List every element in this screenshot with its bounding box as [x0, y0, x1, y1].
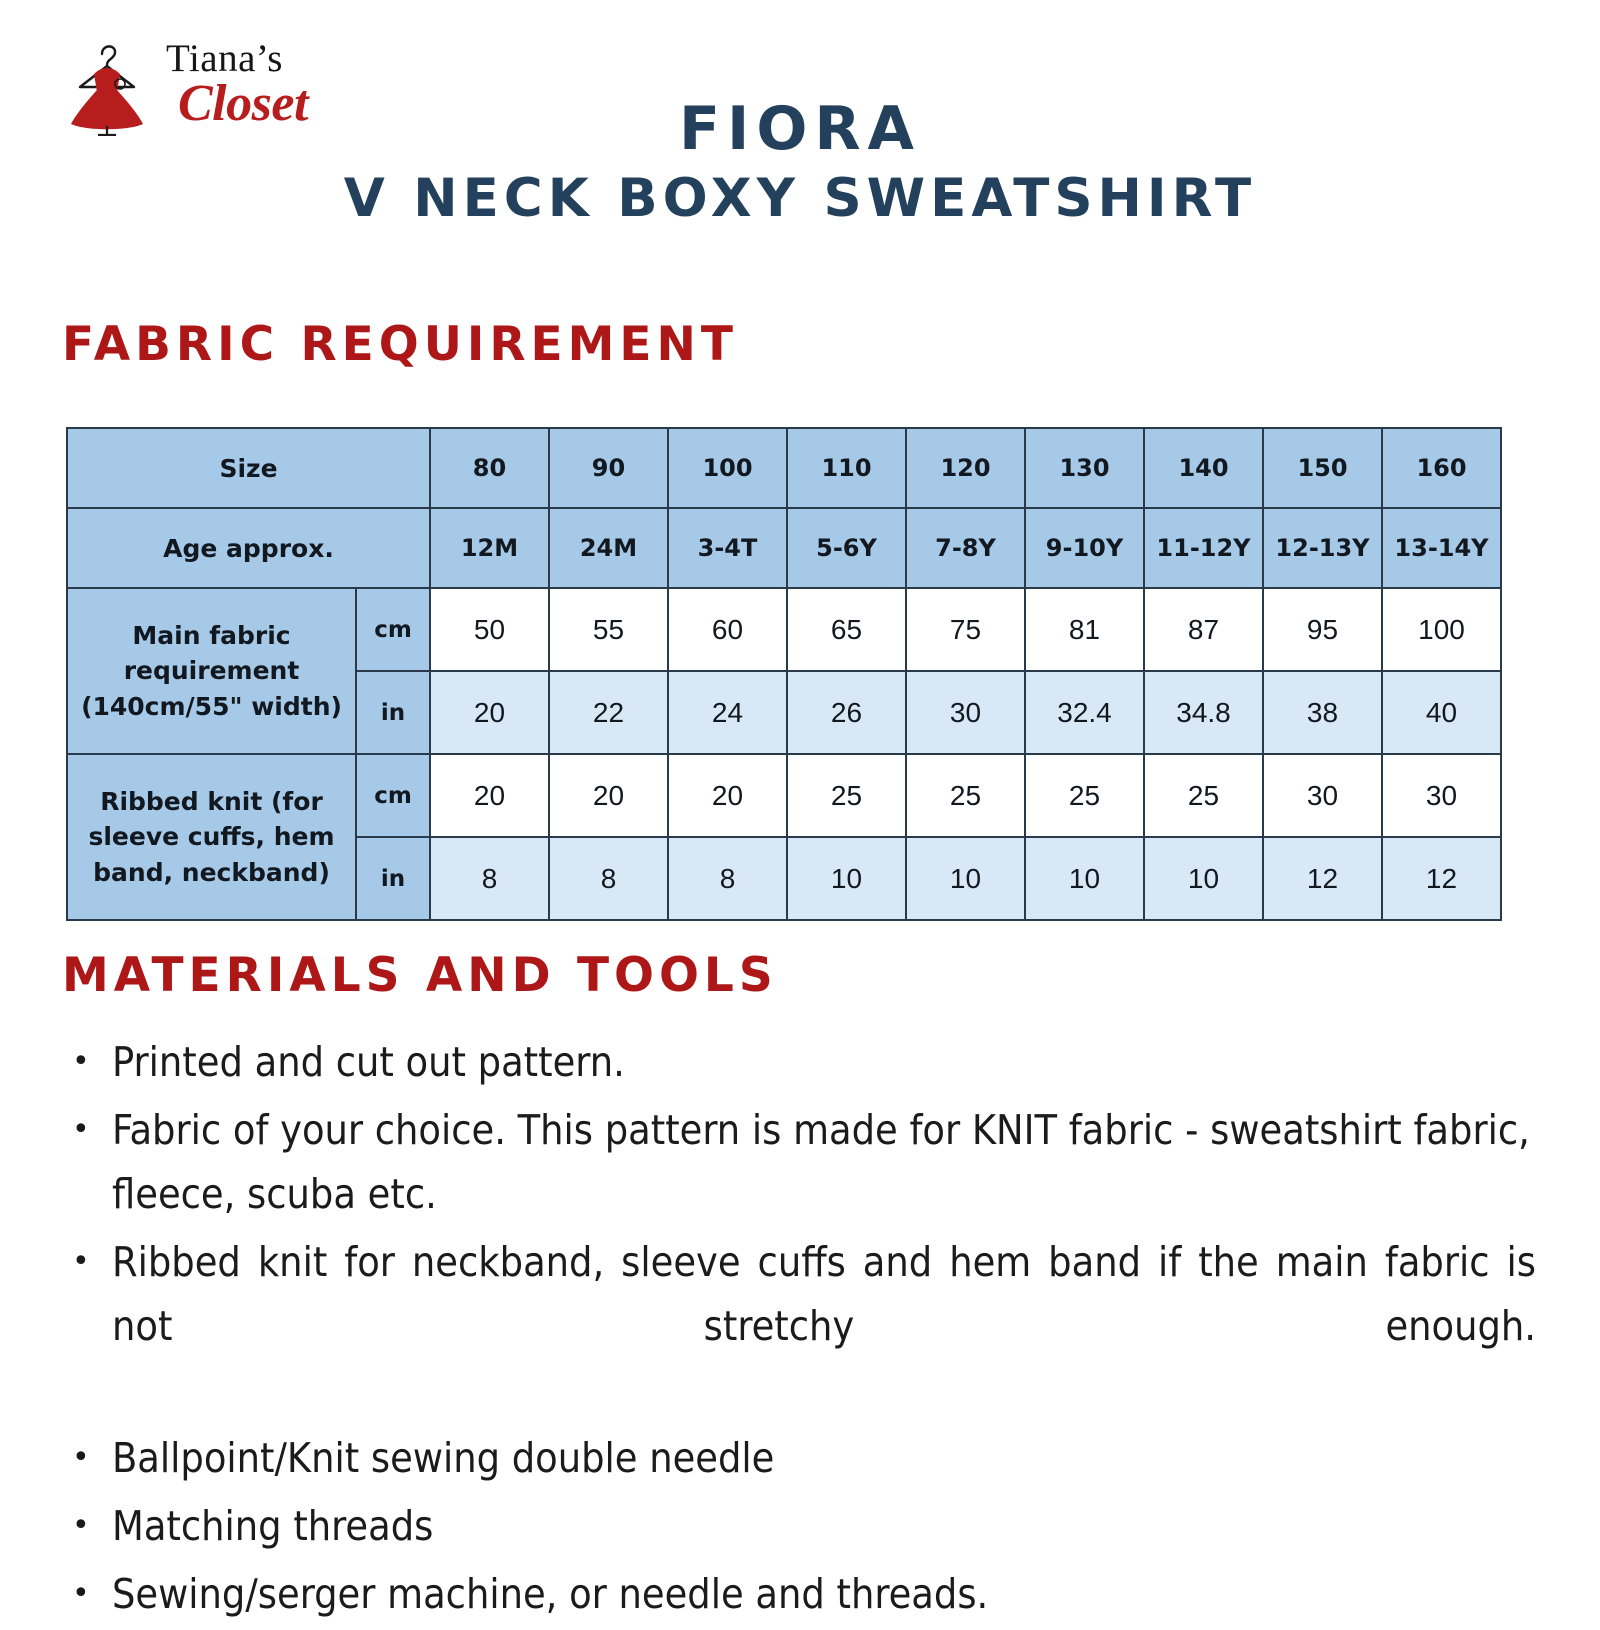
value-cell: 8: [668, 837, 787, 920]
table-row-size: Size 80 90 100 110 120 130 140 150 160: [67, 428, 1501, 508]
value-cell: 25: [787, 754, 906, 837]
value-cell: 8: [549, 837, 668, 920]
value-cell: 87: [1144, 588, 1263, 671]
fabric-requirement-table: Size 80 90 100 110 120 130 140 150 160 A…: [66, 427, 1496, 921]
value-cell: 81: [1025, 588, 1144, 671]
row-header-size: Size: [67, 428, 430, 508]
value-cell: 55: [549, 588, 668, 671]
age-cell: 5-6Y: [787, 508, 906, 588]
row-header-main-fabric: Main fabric requirement (140cm/55" width…: [67, 588, 356, 754]
value-cell: 26: [787, 671, 906, 754]
value-cell: 60: [668, 588, 787, 671]
value-cell: 24: [668, 671, 787, 754]
size-cell: 110: [787, 428, 906, 508]
size-cell: 130: [1025, 428, 1144, 508]
age-cell: 12M: [430, 508, 549, 588]
age-cell: 13-14Y: [1382, 508, 1501, 588]
age-cell: 24M: [549, 508, 668, 588]
value-cell: 12: [1382, 837, 1501, 920]
row-header-age: Age approx.: [67, 508, 430, 588]
value-cell: 25: [906, 754, 1025, 837]
age-cell: 7-8Y: [906, 508, 1025, 588]
value-cell: 38: [1263, 671, 1382, 754]
list-item-text: Matching threads: [112, 1494, 1536, 1558]
value-cell: 32.4: [1025, 671, 1144, 754]
pattern-name: FIORA: [0, 96, 1600, 163]
value-cell: 20: [430, 754, 549, 837]
value-cell: 8: [430, 837, 549, 920]
size-cell: 160: [1382, 428, 1501, 508]
size-cell: 100: [668, 428, 787, 508]
table-row-age: Age approx. 12M 24M 3-4T 5-6Y 7-8Y 9-10Y…: [67, 508, 1501, 588]
unit-cell-in: in: [356, 671, 430, 754]
value-cell: 40: [1382, 671, 1501, 754]
value-cell: 34.8: [1144, 671, 1263, 754]
size-cell: 80: [430, 428, 549, 508]
bullet-icon: •: [66, 1098, 112, 1162]
row-header-ribbed-knit: Ribbed knit (for sleeve cuffs, hem band,…: [67, 754, 356, 920]
value-cell: 25: [1144, 754, 1263, 837]
unit-cell-cm: cm: [356, 588, 430, 671]
bullet-icon: •: [66, 1230, 112, 1294]
bullet-icon: •: [66, 1562, 112, 1626]
age-cell: 9-10Y: [1025, 508, 1144, 588]
section-heading-fabric-requirement: FABRIC REQUIREMENT: [62, 317, 738, 372]
list-item-text: Ribbed knit for neckband, sleeve cuffs a…: [112, 1230, 1536, 1422]
bullet-icon: •: [66, 1030, 112, 1094]
bullet-icon: •: [66, 1494, 112, 1558]
size-cell: 150: [1263, 428, 1382, 508]
list-item-text: Ballpoint/Knit sewing double needle: [112, 1426, 1536, 1490]
value-cell: 30: [1382, 754, 1501, 837]
list-item-text: Sewing/serger machine, or needle and thr…: [112, 1562, 1536, 1626]
value-cell: 12: [1263, 837, 1382, 920]
list-item: • Fabric of your choice. This pattern is…: [66, 1098, 1536, 1226]
size-cell: 120: [906, 428, 1025, 508]
size-cell: 90: [549, 428, 668, 508]
section-heading-materials-and-tools: MATERIALS AND TOOLS: [62, 948, 778, 1003]
list-item-text: Printed and cut out pattern.: [112, 1030, 1536, 1094]
table-row-ribbed-knit-cm: Ribbed knit (for sleeve cuffs, hem band,…: [67, 754, 1501, 837]
size-cell: 140: [1144, 428, 1263, 508]
value-cell: 50: [430, 588, 549, 671]
value-cell: 30: [1263, 754, 1382, 837]
age-cell: 12-13Y: [1263, 508, 1382, 588]
value-cell: 10: [906, 837, 1025, 920]
page-title: FIORA V NECK BOXY SWEATSHIRT: [0, 96, 1600, 231]
list-item: • Ribbed knit for neckband, sleeve cuffs…: [66, 1230, 1536, 1422]
age-cell: 3-4T: [668, 508, 787, 588]
value-cell: 22: [549, 671, 668, 754]
list-item: • Printed and cut out pattern.: [66, 1030, 1536, 1094]
pattern-subtitle: V NECK BOXY SWEATSHIRT: [0, 167, 1600, 231]
value-cell: 75: [906, 588, 1025, 671]
value-cell: 25: [1025, 754, 1144, 837]
value-cell: 10: [1025, 837, 1144, 920]
list-item: • Ballpoint/Knit sewing double needle: [66, 1426, 1536, 1490]
age-cell: 11-12Y: [1144, 508, 1263, 588]
value-cell: 20: [668, 754, 787, 837]
table-row-main-fabric-cm: Main fabric requirement (140cm/55" width…: [67, 588, 1501, 671]
value-cell: 10: [787, 837, 906, 920]
value-cell: 65: [787, 588, 906, 671]
value-cell: 20: [549, 754, 668, 837]
list-item: • Sewing/serger machine, or needle and t…: [66, 1562, 1536, 1626]
value-cell: 95: [1263, 588, 1382, 671]
list-item-text: Fabric of your choice. This pattern is m…: [112, 1098, 1536, 1226]
unit-cell-in: in: [356, 837, 430, 920]
unit-cell-cm: cm: [356, 754, 430, 837]
value-cell: 10: [1144, 837, 1263, 920]
value-cell: 30: [906, 671, 1025, 754]
value-cell: 100: [1382, 588, 1501, 671]
list-item: • Matching threads: [66, 1494, 1536, 1558]
bullet-icon: •: [66, 1426, 112, 1490]
value-cell: 20: [430, 671, 549, 754]
materials-and-tools-list: • Printed and cut out pattern. • Fabric …: [66, 1030, 1536, 1630]
